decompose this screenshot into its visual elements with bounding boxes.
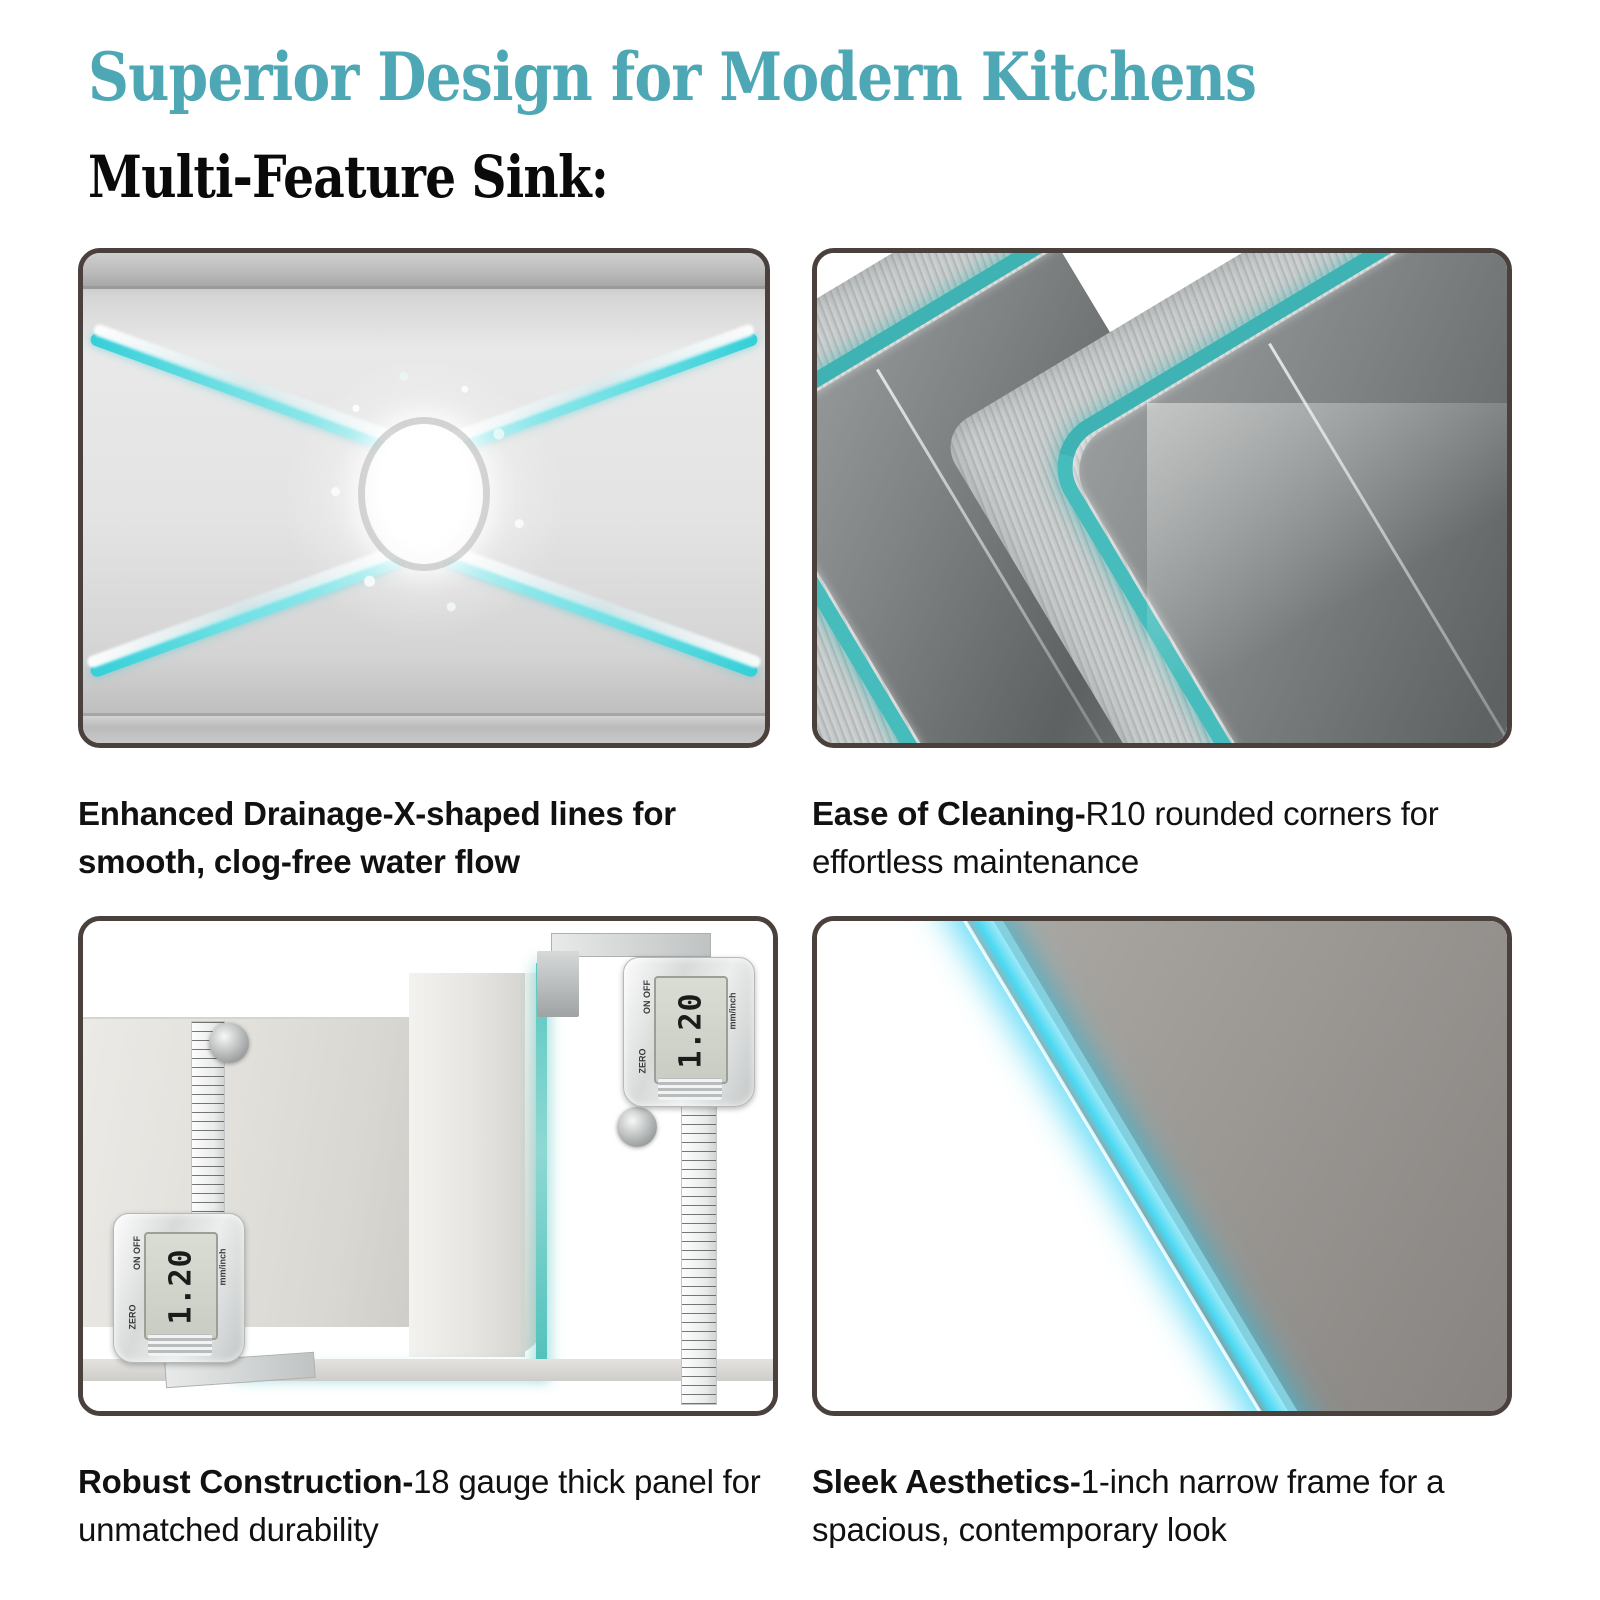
feature-image-ease-of-cleaning <box>812 248 1512 748</box>
caliper-grip-lower <box>148 1334 212 1356</box>
page-subtitle: Multi-Feature Sink: <box>88 148 608 206</box>
caliper-thumbwheel-lower <box>209 1023 249 1063</box>
infographic-page: Superior Design for Modern Kitchens Mult… <box>0 0 1600 1600</box>
feature-caption-ease-of-cleaning: Ease of Cleaning-R10 rounded corners for… <box>812 790 1512 886</box>
caliper-jaw-tip-upper <box>537 951 579 1017</box>
rounded-corners-graphic <box>817 253 1507 743</box>
caliper-measurement-graphic: 1.20 mm/inch ON OFF ZERO <box>83 921 773 1411</box>
caption-lead-robust-construction: Robust Construction- <box>78 1463 413 1500</box>
caliper-ticks-upper <box>682 1106 716 1404</box>
narrow-frame-graphic <box>817 921 1507 1411</box>
drain-hole <box>365 424 483 564</box>
feature-cell-enhanced-drainage: Enhanced Drainage-X-shaped lines for smo… <box>78 248 778 886</box>
basin-fold-right <box>1471 921 1507 972</box>
caliper-power-label-lower: ON OFF <box>132 1236 142 1270</box>
caliper-body-upper: 1.20 mm/inch ON OFF ZERO <box>623 957 755 1107</box>
basin-rim-top <box>83 253 765 289</box>
sink-basin-graphic <box>83 253 765 743</box>
caliper-units-label-lower: mm/inch <box>217 1248 227 1285</box>
caption-lead-ease-of-cleaning: Ease of Cleaning- <box>812 795 1086 832</box>
caliper-lcd-upper: 1.20 <box>654 976 728 1084</box>
caption-lead-sleek-aesthetics: Sleek Aesthetics- <box>812 1463 1081 1500</box>
digital-caliper-lower: 1.20 mm/inch ON OFF ZERO <box>113 1213 245 1363</box>
caliper-grip-upper <box>658 1078 722 1100</box>
sink-wall-fold <box>409 973 525 1357</box>
feature-caption-sleek-aesthetics: Sleek Aesthetics-1-inch narrow frame for… <box>812 1458 1512 1554</box>
caliper-body-lower: 1.20 mm/inch ON OFF ZERO <box>113 1213 245 1363</box>
feature-caption-robust-construction: Robust Construction-18 gauge thick panel… <box>78 1458 778 1554</box>
caliper-reading-upper: 1.20 <box>674 992 709 1068</box>
caliper-thumbwheel-upper <box>617 1107 657 1147</box>
feature-image-sleek-aesthetics <box>812 916 1512 1416</box>
caliper-zero-label-upper: ZERO <box>638 1048 648 1073</box>
caliper-lcd-lower: 1.20 <box>144 1232 218 1340</box>
feature-cell-ease-of-cleaning: Ease of Cleaning-R10 rounded corners for… <box>812 248 1512 886</box>
caliper-zero-label-lower: ZERO <box>128 1304 138 1329</box>
feature-cell-robust-construction: 1.20 mm/inch ON OFF ZERO <box>78 916 778 1554</box>
caliper-power-label-upper: ON OFF <box>642 980 652 1014</box>
feature-caption-enhanced-drainage: Enhanced Drainage-X-shaped lines for smo… <box>78 790 778 886</box>
caliper-units-label-upper: mm/inch <box>727 992 737 1029</box>
feature-cell-sleek-aesthetics: Sleek Aesthetics-1-inch narrow frame for… <box>812 916 1512 1554</box>
digital-caliper-upper: 1.20 mm/inch ON OFF ZERO <box>623 957 755 1107</box>
basin-rim-bottom <box>83 713 765 743</box>
feature-image-enhanced-drainage <box>78 248 770 748</box>
caliper-scale-upper <box>681 1105 717 1405</box>
feature-image-robust-construction: 1.20 mm/inch ON OFF ZERO <box>78 916 778 1416</box>
panel-edge-highlight-vertical <box>536 963 547 1377</box>
page-title: Superior Design for Modern Kitchens <box>88 44 1256 110</box>
caliper-reading-lower: 1.20 <box>164 1248 199 1324</box>
